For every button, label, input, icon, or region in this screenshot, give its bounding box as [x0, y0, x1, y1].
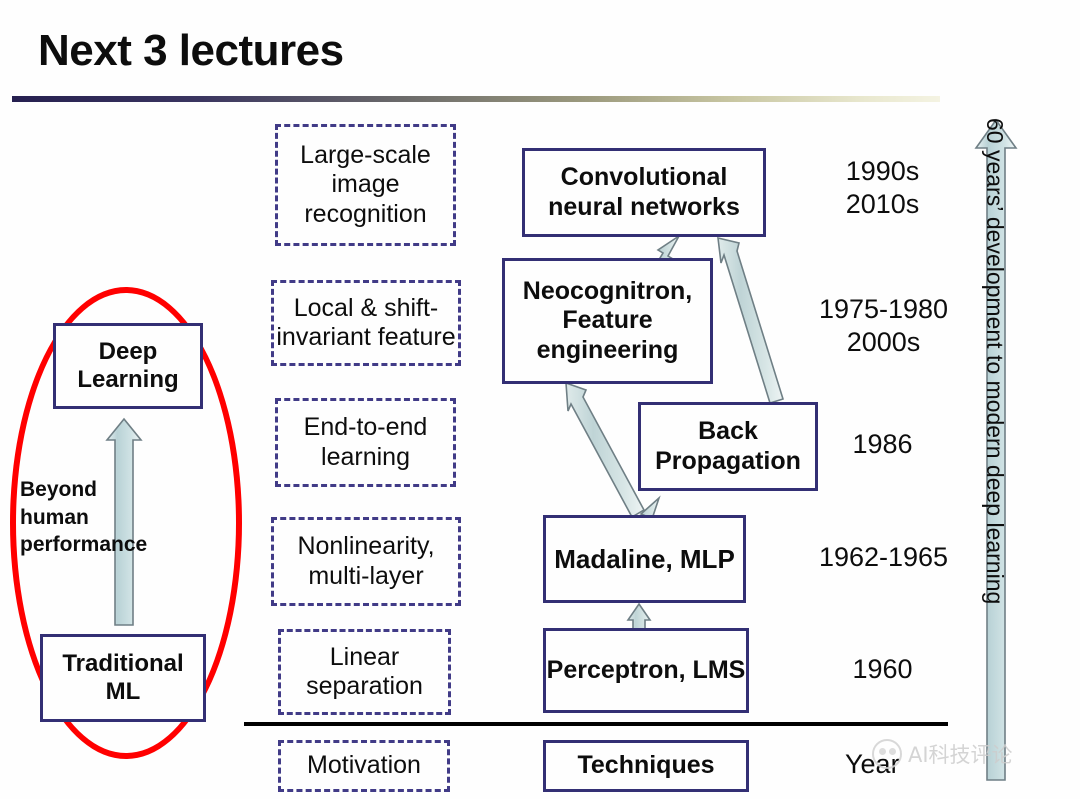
box-motivation-linear-separation[interactable]: Linear separation [278, 629, 451, 715]
watermark-text: AI科技评论 [908, 739, 1013, 769]
slide-canvas: Next 3 lectures [0, 0, 1080, 799]
column-header-motivation: Motivation [278, 740, 450, 792]
beyond-human-performance-caption: Beyond human performance [20, 476, 130, 559]
box-technique-neocognitron[interactable]: Neocognitron, Feature engineering [502, 258, 713, 384]
development-arrow-label: 60 years’ development to modern deep lea… [981, 118, 1008, 778]
year-label-cnn: 1990s 2010s [800, 155, 965, 221]
watermark: AI科技评论 [872, 739, 1013, 769]
box-motivation-nonlinearity[interactable]: Nonlinearity, multi-layer [271, 517, 461, 606]
arrow-perceptron-to-madaline [628, 604, 650, 630]
box-technique-back-propagation[interactable]: Back Propagation [638, 402, 818, 491]
arrow-backpropagation-to-cnn [718, 238, 783, 403]
arrow-madaline-to-neocognitron [566, 383, 644, 517]
year-label-back-propagation: 1986 [800, 428, 965, 461]
box-deep-learning[interactable]: Deep Learning [53, 323, 203, 409]
footer-separator [244, 722, 948, 726]
title-divider [12, 96, 940, 102]
year-label-madaline: 1962-1965 [796, 541, 971, 574]
box-technique-madaline[interactable]: Madaline, MLP [543, 515, 746, 603]
box-traditional-ml[interactable]: Traditional ML [40, 634, 206, 722]
watermark-logo-icon [872, 739, 902, 769]
box-motivation-local-shift[interactable]: Local & shift-invariant feature [271, 280, 461, 366]
box-technique-cnn[interactable]: Convolutional neural networks [522, 148, 766, 237]
page-title: Next 3 lectures [38, 26, 344, 76]
column-header-techniques: Techniques [543, 740, 749, 792]
box-motivation-large-scale[interactable]: Large-scale image recognition [275, 124, 456, 246]
box-motivation-end-to-end[interactable]: End-to-end learning [275, 398, 456, 487]
year-label-perceptron: 1960 [800, 653, 965, 686]
box-technique-perceptron[interactable]: Perceptron, LMS [543, 628, 749, 713]
year-label-neocognitron: 1975-1980 2000s [796, 293, 971, 359]
